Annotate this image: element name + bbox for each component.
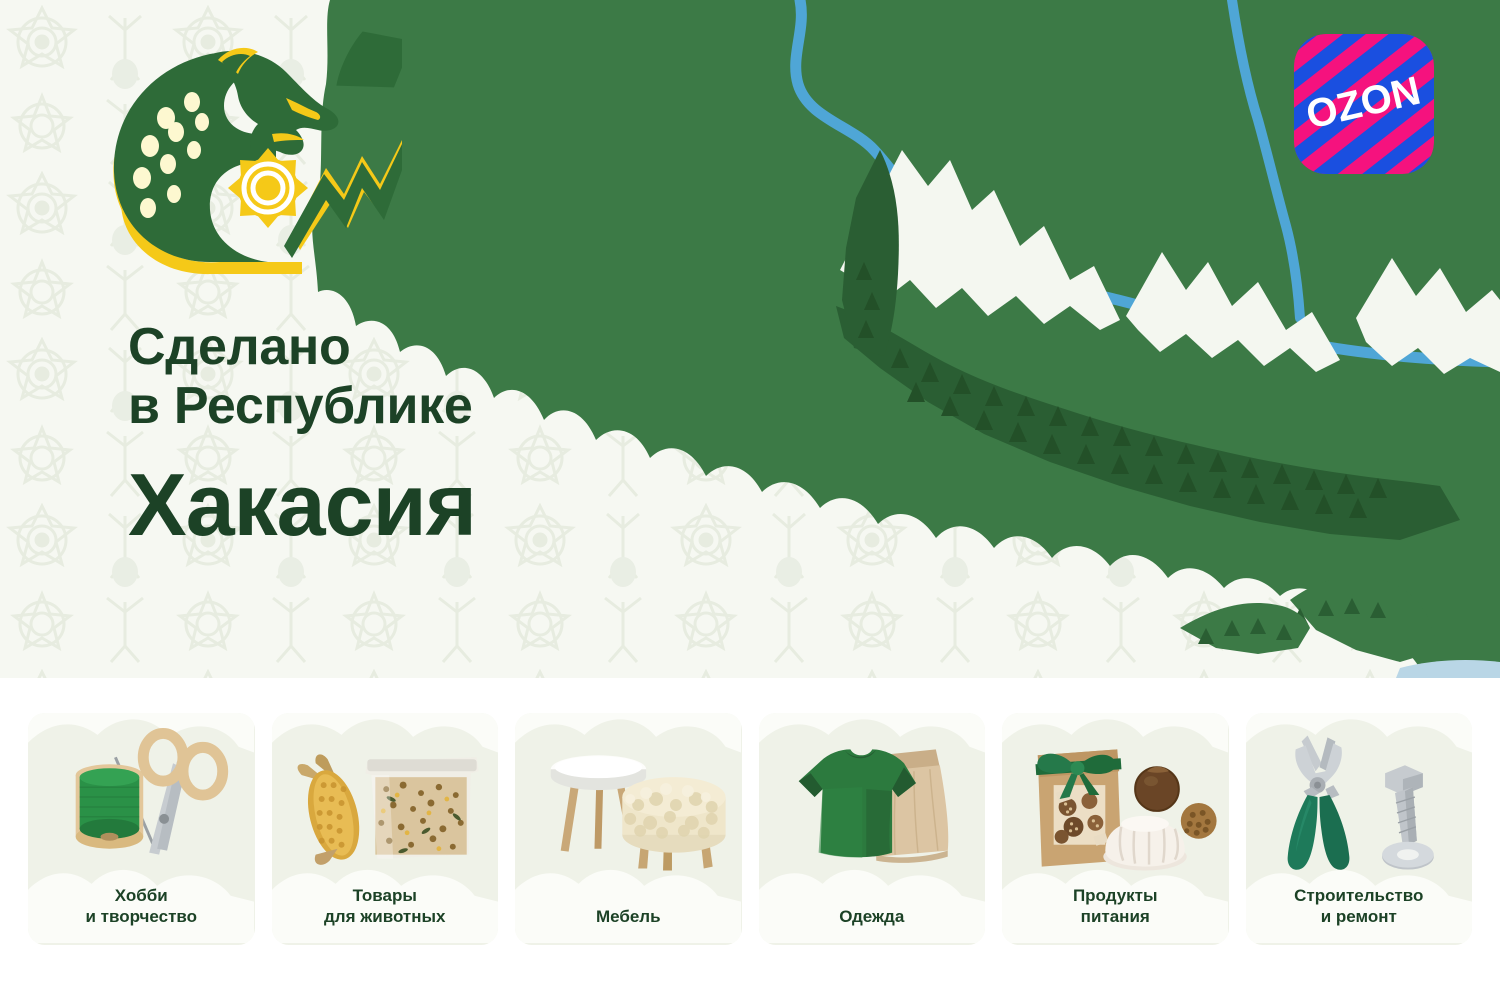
promo-banner: Сделано в Республике Хакасия	[0, 0, 1500, 678]
category-card-construction[interactable]: Строительство и ремонт	[1246, 713, 1473, 945]
category-label: Товары для животных	[272, 885, 499, 928]
category-label: Хобби и творчество	[28, 885, 255, 928]
headline-line-3: Хакасия	[128, 458, 848, 552]
headline-line-1: Сделано	[128, 318, 848, 377]
category-card-clothing[interactable]: Одежда	[759, 713, 986, 945]
banner-headline: Сделано в Республике Хакасия	[128, 318, 848, 552]
category-card-furniture[interactable]: Мебель	[515, 713, 742, 945]
tshirt-and-skirt-icon	[759, 727, 986, 877]
side-table-and-ottoman-icon	[515, 727, 742, 877]
thread-spool-and-scissors-icon	[28, 727, 255, 877]
headline-line-2: в Республике	[128, 377, 848, 436]
category-card-strip: Хобби и творчество	[0, 713, 1500, 945]
corn-and-feed-bag-icon	[272, 727, 499, 877]
pliers-bolt-washer-icon	[1246, 727, 1473, 877]
ozon-logo-badge[interactable]: OZON	[1294, 34, 1434, 174]
snow-leopard-emblem-logo	[62, 22, 402, 287]
category-label: Строительство и ремонт	[1246, 885, 1473, 928]
category-label: Одежда	[759, 906, 986, 927]
category-label: Продукты питания	[1002, 885, 1229, 928]
category-card-hobby[interactable]: Хобби и творчество	[28, 713, 255, 945]
category-card-food[interactable]: Продукты питания	[1002, 713, 1229, 945]
category-card-pets[interactable]: Товары для животных	[272, 713, 499, 945]
category-label: Мебель	[515, 906, 742, 927]
gift-bag-truffles-zephyr-icon	[1002, 727, 1229, 877]
ozon-logo-icon: OZON	[1294, 34, 1434, 174]
